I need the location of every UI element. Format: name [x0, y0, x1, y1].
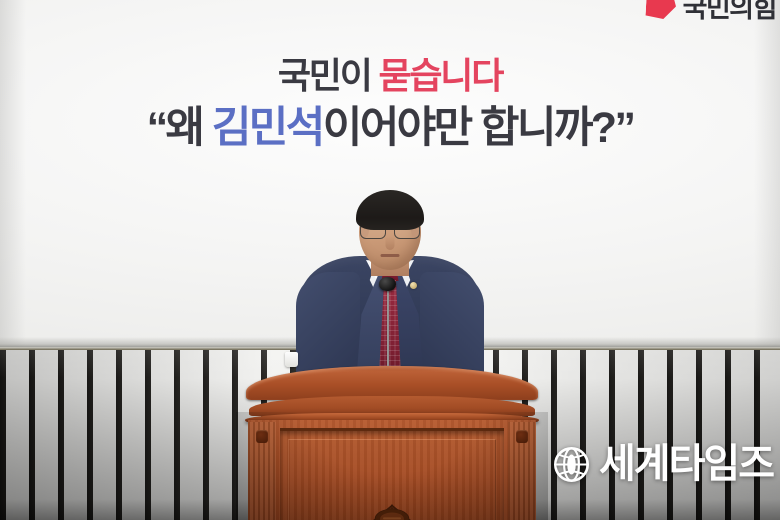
headline-line1-part-1: 국민이 [278, 55, 379, 96]
globe-icon [553, 446, 590, 483]
banner-right-shading [754, 0, 780, 347]
mouth [381, 254, 400, 257]
headline-line-2: “왜 김민석이어야만 합니까?” [0, 107, 780, 150]
headline-line1-part-2: 묻습니다 [378, 55, 502, 96]
speaker [300, 196, 480, 386]
podium-rosette-right-icon [516, 430, 528, 443]
watermark-label: 세계타임즈 [599, 444, 773, 484]
banner-headline: 국민이 묻습니다 “왜 김민석이어야만 합니까?” [0, 58, 780, 150]
banner-left-shading [0, 0, 26, 347]
podium-desktop [246, 366, 538, 400]
headline-line2-part-2: 김민석 [212, 104, 323, 152]
party-name-label: 국민의힘 [683, 0, 776, 25]
microphone-icon [379, 277, 396, 291]
party-flag-mark-icon [645, 0, 676, 19]
national-assembly-emblem-icon [350, 483, 434, 520]
microphone-stalk [387, 288, 389, 370]
lapel-pin-icon [410, 282, 417, 289]
party-logo: 국민의힘 [646, 0, 776, 25]
headline-line2-part-1: “왜 [147, 104, 212, 152]
water-cup [285, 352, 298, 367]
podium-front-panel [280, 428, 504, 520]
nose [386, 236, 395, 250]
headline-line2-part-3: 이어야만 합니까?” [323, 104, 634, 152]
podium [246, 366, 538, 520]
podium-rosette-left-icon [256, 430, 268, 443]
hair [356, 190, 424, 230]
photo-canvas: 국민의힘 국민이 묻습니다 “왜 김민석이어야만 합니까?” [0, 0, 780, 520]
headline-line-1: 국민이 묻습니다 [0, 58, 780, 94]
watermark: 세계타임즈 [553, 444, 773, 484]
